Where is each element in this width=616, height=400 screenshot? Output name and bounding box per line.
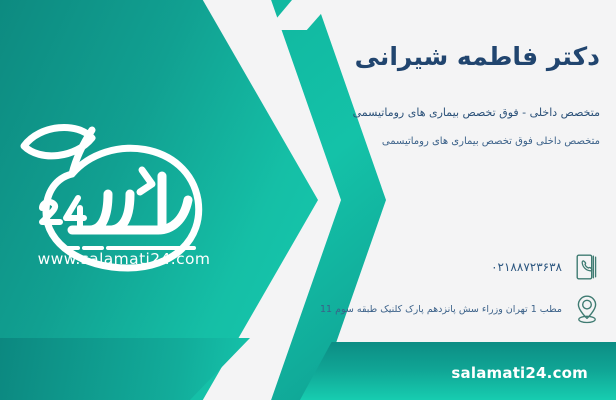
logo-website-url: www.salamati24.com bbox=[14, 250, 234, 268]
phone-number: ۰۲۱۸۸۷۲۳۶۳۸ bbox=[491, 260, 562, 274]
map-pin-icon bbox=[572, 292, 602, 326]
doctor-specialty-secondary: متخصص داخلی فوق تخصص بیماری های روماتیسم… bbox=[316, 136, 600, 147]
phone-book-icon bbox=[572, 250, 602, 284]
phone-row[interactable]: ۰۲۱۸۸۷۲۳۶۳۸ bbox=[491, 250, 602, 284]
address-row[interactable]: مطب 1 تهران وزراء سش پانزدهم پارک کلنیک … bbox=[320, 292, 602, 326]
footer-wedge bbox=[0, 338, 250, 400]
clinic-address: مطب 1 تهران وزراء سش پانزدهم پارک کلنیک … bbox=[320, 304, 562, 315]
doctor-specialty-primary: متخصص داخلی - فوق تخصص بیماری های روماتی… bbox=[316, 106, 600, 119]
business-card: www.salamati24.com دکتر فاطمه شیرانی متخ… bbox=[0, 0, 616, 400]
doctor-name: دکتر فاطمه شیرانی bbox=[320, 42, 600, 71]
card-content: دکتر فاطمه شیرانی متخصص داخلی - فوق تخصص… bbox=[316, 0, 616, 400]
footer-website-url[interactable]: salamati24.com bbox=[451, 364, 588, 382]
